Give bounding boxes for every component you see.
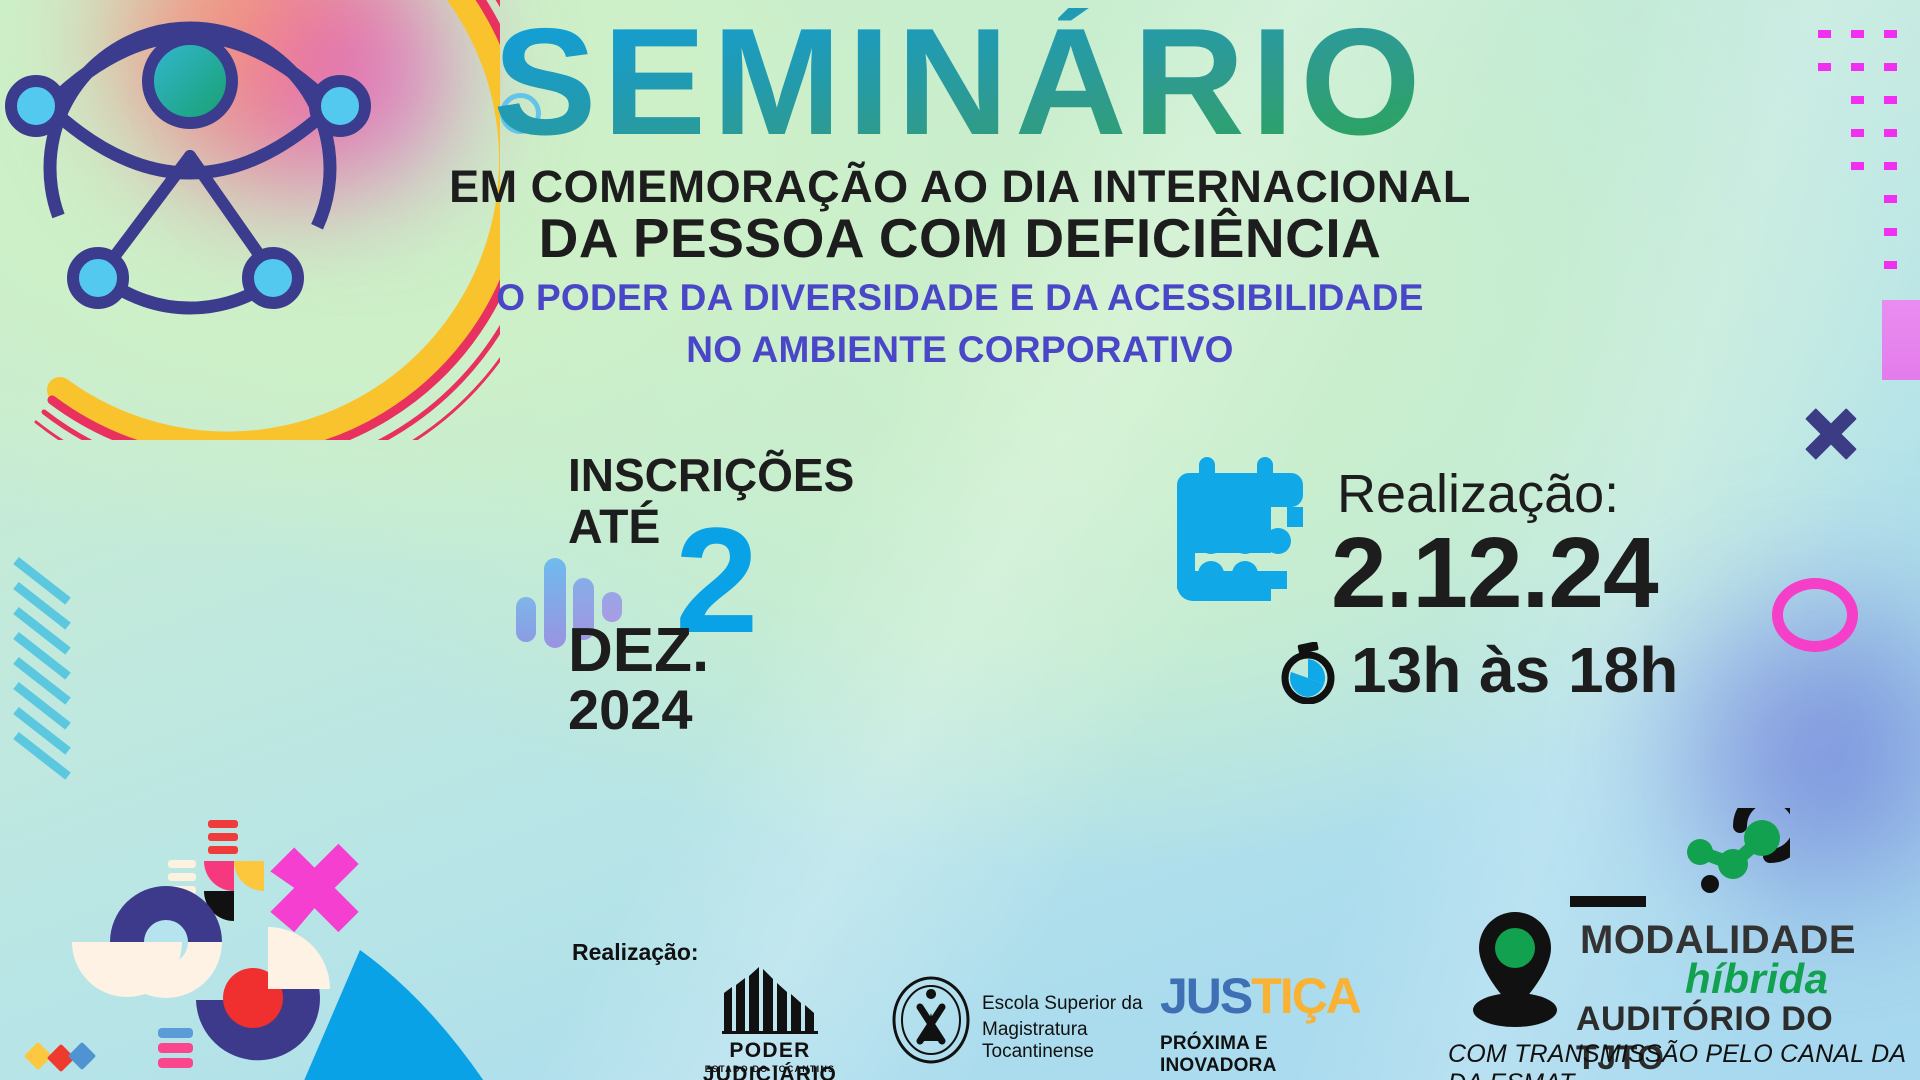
hearing-network-icon [1670, 808, 1790, 918]
registration-month: DEZ. [568, 620, 709, 682]
theme-line-1: O PODER DA DIVERSIDADE E DA ACESSIBILIDA… [0, 276, 1920, 320]
logo-esmat: Escola Superior da Magistratura Tocantin… [890, 975, 1150, 1065]
page-title: SEMINÁRIO [0, 8, 1920, 157]
footer-logos-block: Realização: PODER JUDICIÁRIO ESTADO DO T… [560, 925, 1300, 1080]
registration-block: INSCRIÇÕES ATÉ 2 DEZ. 2024 [520, 430, 870, 730]
poder-judiciario-mark [680, 961, 860, 1037]
logo-poder-judiciario-sub: ESTADO DO TOCANTINS [680, 1064, 860, 1074]
logo-justica-word-a: JUS [1160, 968, 1251, 1024]
logo-justica: JUSTIÇA PRÓXIMA E INOVADORA [1160, 971, 1320, 1071]
subtitle-line-2: DA PESSOA COM DEFICIÊNCIA [0, 210, 1920, 268]
registration-word-inscricoes: INSCRIÇÕES [568, 448, 854, 502]
event-datetime-block: Realização: 2.12.24 13h às 18h [1165, 445, 1685, 735]
modality-block: MODALIDADE híbrida AUDITÓRIO DO TJTO COM… [1440, 800, 1920, 1080]
logo-esmat-line-2: Magistratura Tocantinense [982, 1019, 1150, 1063]
poster-canvas: SEMINÁRIO EM COMEMORAÇÃO AO DIA INTERNAC… [0, 0, 1920, 1080]
headline-block: SEMINÁRIO EM COMEMORAÇÃO AO DIA INTERNAC… [0, 8, 1920, 371]
logo-justica-word-b: TIÇA [1251, 968, 1360, 1024]
modality-line-4: COM TRANSMISSÃO PELO CANAL DA DA ESMAT [1448, 1040, 1920, 1080]
logo-justica-wordmark: JUSTIÇA [1160, 971, 1360, 1021]
event-date: 2.12.24 [1331, 523, 1658, 623]
modality-line-2: híbrida [1685, 955, 1829, 1003]
location-pin-icon [1460, 908, 1570, 1028]
event-label: Realização: [1337, 463, 1619, 525]
logo-poder-judiciario: PODER JUDICIÁRIO ESTADO DO TOCANTINS [680, 961, 860, 1076]
stopwatch-icon [1277, 642, 1339, 704]
theme-line-2: NO AMBIENTE CORPORATIVO [0, 328, 1920, 372]
esmat-seal-icon [890, 975, 972, 1065]
event-time: 13h às 18h [1351, 638, 1678, 702]
logo-justica-tagline: PRÓXIMA E INOVADORA [1160, 1033, 1320, 1077]
subtitle-line-1: EM COMEMORAÇÃO AO DIA INTERNACIONAL [0, 163, 1920, 210]
decorative-dash [1570, 896, 1646, 907]
registration-year: 2024 [568, 682, 693, 738]
logo-esmat-line-1: Escola Superior da [982, 993, 1143, 1015]
registration-word-ate: ATÉ [568, 500, 660, 555]
calendar-icon [1165, 453, 1315, 603]
